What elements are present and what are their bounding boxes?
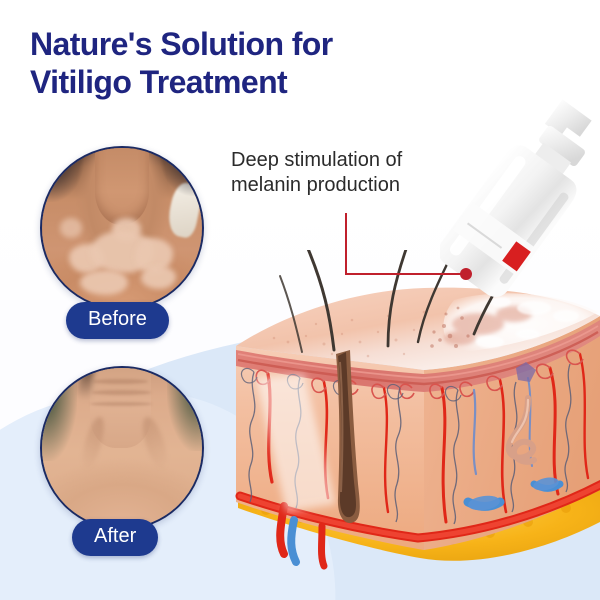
before-photo <box>40 146 204 310</box>
leader-line-vertical <box>345 213 347 275</box>
before-photo-shadow-right <box>160 148 202 196</box>
before-photo-shadow-left <box>42 148 84 202</box>
vitiligo-patch-spot <box>141 266 176 288</box>
after-photo-image <box>42 368 202 528</box>
annotation-text: Deep stimulation of melanin production <box>231 148 461 198</box>
before-photo-image <box>42 148 202 308</box>
leader-line-horizontal <box>345 273 465 275</box>
before-photo-neck <box>95 146 149 225</box>
advertisement-canvas: Deep stimulation of melanin production N… <box>0 0 600 600</box>
before-badge: Before <box>66 302 169 339</box>
after-photo-neck-fold <box>93 379 147 384</box>
leader-target-dot <box>460 268 472 280</box>
after-badge: After <box>72 519 158 556</box>
after-photo-neck-fold <box>90 402 152 406</box>
after-photo-green-right <box>167 368 202 451</box>
vitiligo-patch-spot <box>60 218 82 237</box>
vitiligo-patch-spot <box>80 270 128 296</box>
after-photo-green-left <box>42 368 77 461</box>
after-photo <box>40 366 204 530</box>
page-title: Nature's Solution for Vitiligo Treatment <box>30 26 450 102</box>
